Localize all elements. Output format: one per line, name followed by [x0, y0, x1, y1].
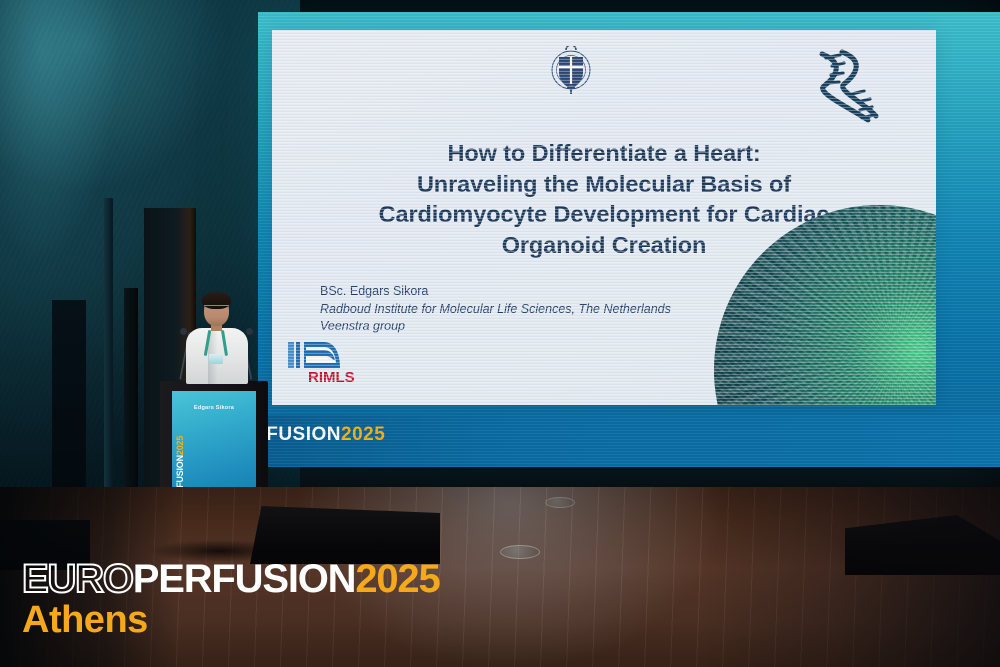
svg-text:RIMLS: RIMLS [308, 369, 355, 386]
microphone-head-icon [180, 328, 187, 335]
floor-socket-plate [500, 545, 540, 559]
overlay-logo-year: 2025 [355, 557, 439, 601]
dna-helix-icon [812, 46, 884, 130]
presenter-group: Veenstra group [320, 318, 750, 335]
microphone-head-icon [246, 328, 253, 335]
led-wall-branding-band: RFUSION2025 [258, 415, 1000, 467]
rimls-logo: RIMLS [280, 338, 360, 386]
presenter-person [178, 292, 258, 384]
overlay-logo-city: Athens [22, 601, 440, 641]
podium-logo-year: 2025 [175, 436, 185, 455]
led-band-text-amber: 2025 [341, 424, 385, 445]
stage-monitor-wedge [250, 506, 440, 564]
podium-speaker-name: Edgars Sikora [172, 405, 256, 411]
presenter-affiliation: Radboud Institute for Molecular Life Sci… [320, 301, 750, 318]
stage-pillar [52, 300, 86, 490]
presenter-glasses [204, 305, 229, 311]
university-crest-icon [550, 46, 592, 98]
floor-socket-plate [545, 497, 575, 508]
overlay-logo-perfusion: PERFUSION [133, 557, 356, 601]
slide-presenter-block: BSc. Edgars Sikora Radboud Institute for… [320, 282, 750, 335]
presenter-badge [209, 354, 223, 364]
title-line-2: Unraveling the Molecular Basis of [318, 169, 890, 200]
presenter-name: BSc. Edgars Sikora [320, 282, 750, 301]
wall-light-glow [0, 0, 120, 260]
led-band-text-white: RFUSION [258, 424, 341, 445]
stage-pillar [124, 288, 138, 488]
event-branding-overlay: EUROPERFUSION2025 Athens [22, 559, 440, 641]
led-video-wall: How to Differentiate a Heart: Unraveling… [258, 12, 1000, 467]
led-band-text: RFUSION2025 [258, 424, 385, 446]
overlay-logo-line-1: EUROPERFUSION2025 [22, 559, 440, 599]
overlay-logo-euro: EURO [22, 557, 133, 601]
floor-shadow-right [700, 487, 1000, 667]
presentation-slide: How to Differentiate a Heart: Unraveling… [272, 30, 936, 405]
conference-stage-photo: How to Differentiate a Heart: Unraveling… [0, 0, 1000, 667]
stage-pillar [104, 198, 113, 488]
title-line-1: How to Differentiate a Heart: [318, 138, 890, 169]
